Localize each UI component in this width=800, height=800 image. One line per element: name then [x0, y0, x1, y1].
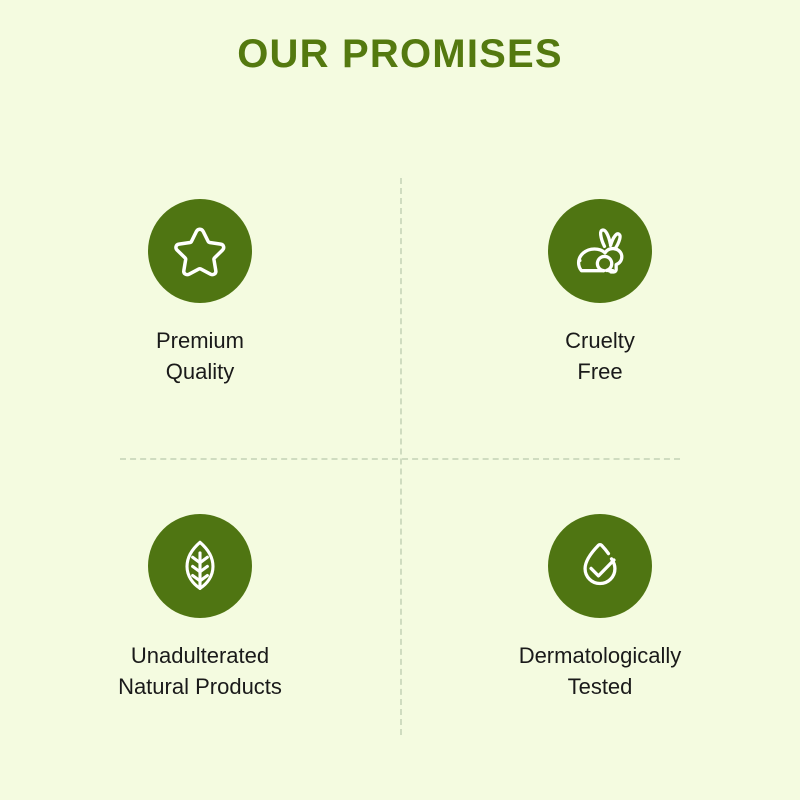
- promise-grid: Premium Quality: [0, 170, 800, 760]
- promise-badge: [148, 199, 252, 303]
- rabbit-icon: [569, 220, 631, 282]
- droplet-check-icon: [569, 535, 631, 597]
- promise-badge: [148, 514, 252, 618]
- promise-label: Unadulterated Natural Products: [118, 640, 282, 702]
- promise-label: Dermatologically Tested: [519, 640, 682, 702]
- our-promises-panel: OUR PROMISES Premium Quality: [0, 0, 800, 800]
- promise-item-natural-products: Unadulterated Natural Products: [0, 458, 400, 746]
- promise-item-cruelty-free: Cruelty Free: [400, 170, 800, 458]
- promise-label: Premium Quality: [156, 325, 244, 387]
- promise-badge: [548, 199, 652, 303]
- page-title: OUR PROMISES: [0, 30, 800, 78]
- star-icon: [169, 220, 231, 282]
- promise-badge: [548, 514, 652, 618]
- promise-item-dermatologically-tested: Dermatologically Tested: [400, 458, 800, 746]
- promise-item-premium-quality: Premium Quality: [0, 170, 400, 458]
- promise-label: Cruelty Free: [565, 325, 635, 387]
- leaf-icon: [169, 535, 231, 597]
